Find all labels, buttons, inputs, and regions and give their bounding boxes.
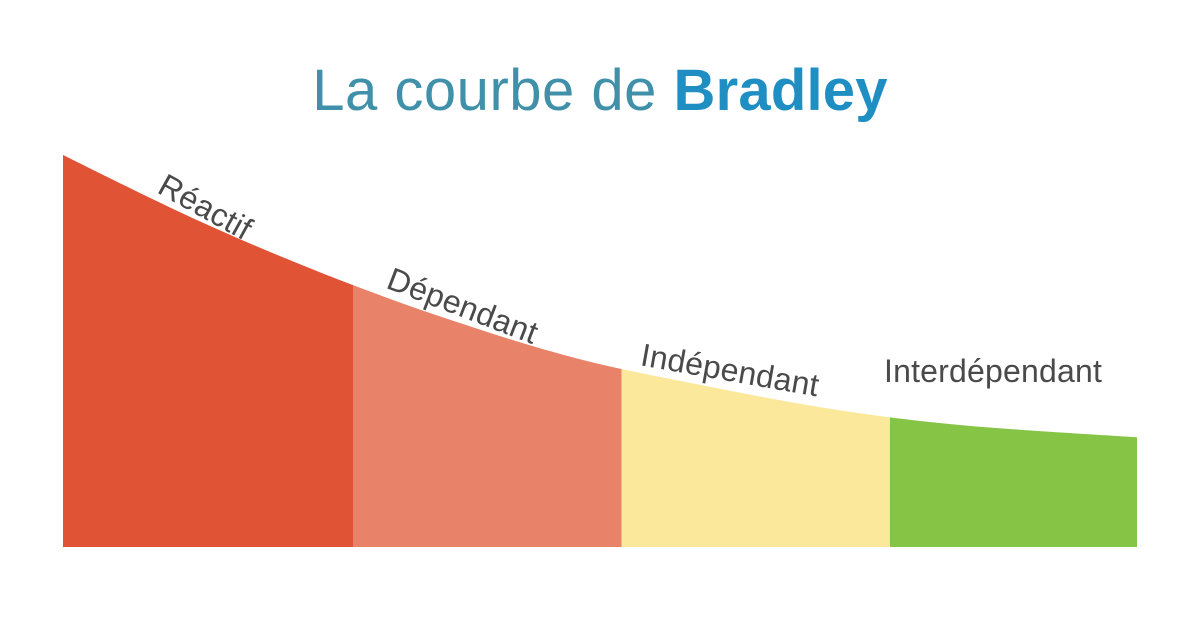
segment-dependant [353,135,622,567]
curve-svg [0,0,1200,628]
bradley-curve-infographic: La courbe de Bradley Réactif Dépendant I… [0,0,1200,628]
segment-interdependant [890,135,1138,567]
stage-label-interdependant: Interdépendant [884,353,1102,390]
bradley-curve-chart: Réactif Dépendant Indépendant Interdépen… [0,0,1200,628]
